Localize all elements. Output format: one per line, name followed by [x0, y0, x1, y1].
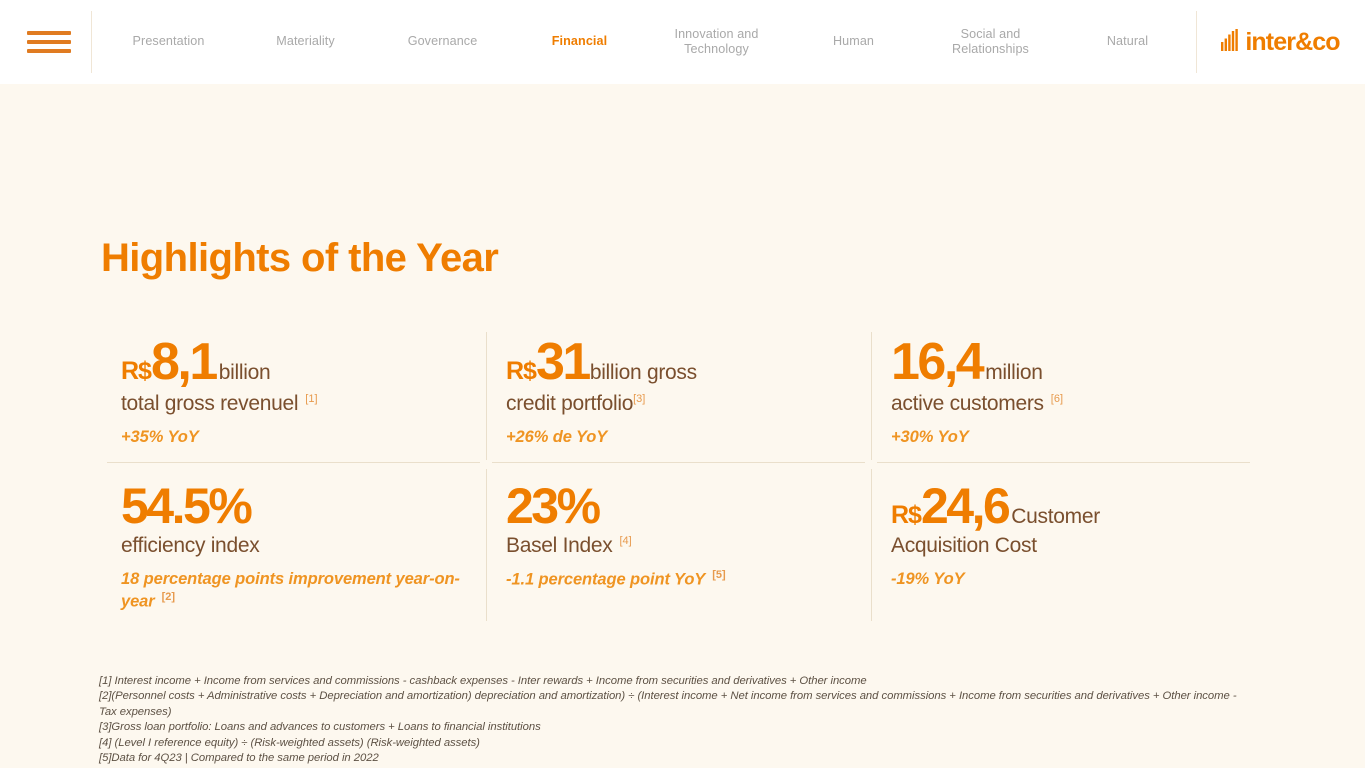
- metric-currency: R$: [121, 357, 151, 385]
- metric-delta-text: +26% de YoY: [506, 428, 607, 446]
- metric-delta: -1.1 percentage point YoY[5]: [506, 568, 847, 591]
- slide-body: Highlights of the Year R$8,1billion tota…: [0, 84, 1365, 768]
- metric-card-customer-acquisition-cost: R$24,6Customer Acquisition Cost -19% YoY: [871, 463, 1256, 633]
- footnotes: [1] Interest income + Income from servic…: [99, 674, 1254, 768]
- nav-item-human[interactable]: Human: [785, 34, 922, 50]
- metric-delta-footnote-ref: [5]: [712, 569, 725, 581]
- metric-label-row: efficiency index: [121, 533, 462, 559]
- metric-headline: R$24,6Customer: [891, 481, 1232, 531]
- footnote-3: [3]Gross loan portfolio: Loans and advan…: [99, 720, 1254, 735]
- metric-value: 8,1: [151, 333, 216, 391]
- metric-delta: 18 percentage points improvement year-on…: [121, 568, 462, 613]
- metric-delta: -19% YoY: [891, 568, 1232, 590]
- metric-headline: 23%: [506, 481, 847, 531]
- metric-card-total-gross-revenue: R$8,1billion total gross revenuel[1] +35…: [101, 330, 486, 463]
- metric-delta: +30% YoY: [891, 426, 1232, 448]
- metric-card-basel-index: 23% Basel Index[4] -1.1 percentage point…: [486, 463, 871, 633]
- metric-label-row: credit portfolio[3]: [506, 391, 847, 417]
- brand-logo[interactable]: inter&co: [1197, 28, 1363, 57]
- top-navigation-bar: Presentation Materiality Governance Fina…: [0, 0, 1365, 84]
- nav-item-presentation[interactable]: Presentation: [100, 34, 237, 50]
- metric-unit: million: [985, 361, 1042, 384]
- metric-delta: +26% de YoY: [506, 426, 847, 448]
- metric-headline: 54.5%: [121, 481, 462, 531]
- metric-value: 24,6: [921, 478, 1008, 534]
- metric-headline: R$31billion gross: [506, 336, 847, 388]
- metric-label: total gross revenuel: [121, 392, 298, 415]
- metric-label-row: total gross revenuel[1]: [121, 391, 462, 417]
- metric-value: 23%: [506, 478, 599, 534]
- hamburger-bar: [27, 40, 71, 44]
- metric-label: Basel Index: [506, 534, 612, 557]
- metric-delta: +35% YoY: [121, 426, 462, 448]
- hamburger-menu-icon[interactable]: [27, 31, 71, 53]
- metric-label: active customers: [891, 392, 1044, 415]
- metric-unit: Customer: [1011, 505, 1100, 528]
- metric-delta-text: +30% YoY: [891, 428, 969, 446]
- metric-label: Acquisition Cost: [891, 534, 1037, 557]
- metric-delta-text: -1.1 percentage point YoY: [506, 570, 705, 588]
- metric-unit: billion gross: [590, 361, 697, 384]
- metric-label-row: Acquisition Cost: [891, 533, 1232, 559]
- footnote-4: [4] (Level I reference equity) ÷ (Risk-w…: [99, 736, 1254, 751]
- metric-label: efficiency index: [121, 534, 259, 557]
- metric-footnote-ref: [3]: [633, 393, 645, 405]
- logo-text: inter&co: [1245, 28, 1339, 57]
- metric-headline: R$8,1billion: [121, 336, 462, 388]
- nav-items: Presentation Materiality Governance Fina…: [92, 0, 1196, 84]
- metric-value: 31: [536, 333, 589, 391]
- metric-card-active-customers: 16,4million active customers[6] +30% YoY: [871, 330, 1256, 463]
- metric-value: 16,4: [891, 333, 982, 391]
- nav-item-governance[interactable]: Governance: [374, 34, 511, 50]
- metric-label-row: Basel Index[4]: [506, 533, 847, 559]
- metric-delta-text: -19% YoY: [891, 570, 964, 588]
- hamburger-bar: [27, 31, 71, 35]
- nav-item-materiality[interactable]: Materiality: [237, 34, 374, 50]
- metric-headline: 16,4million: [891, 336, 1232, 388]
- metric-currency: R$: [506, 357, 536, 385]
- nav-item-financial[interactable]: Financial: [511, 34, 648, 50]
- metric-unit: billion: [219, 361, 271, 384]
- metric-currency: R$: [891, 501, 921, 529]
- metrics-grid: R$8,1billion total gross revenuel[1] +35…: [101, 330, 1266, 633]
- footnote-1: [1] Interest income + Income from servic…: [99, 674, 1254, 689]
- metric-delta-text: 18 percentage points improvement year-on…: [121, 570, 460, 611]
- footnote-5: [5]Data for 4Q23 | Compared to the same …: [99, 751, 1254, 766]
- nav-item-innovation-and-technology[interactable]: Innovation and Technology: [648, 27, 785, 58]
- hamburger-bar: [27, 49, 71, 53]
- footnote-2: [2](Personnel costs + Administrative cos…: [99, 689, 1254, 720]
- metric-card-credit-portfolio: R$31billion gross credit portfolio[3] +2…: [486, 330, 871, 463]
- metric-value: 54.5%: [121, 478, 250, 534]
- metric-label-row: active customers[6]: [891, 391, 1232, 417]
- metric-footnote-ref: [4]: [619, 535, 631, 547]
- metric-card-efficiency-index: 54.5% efficiency index 18 percentage poi…: [101, 463, 486, 633]
- metric-label: credit portfolio: [506, 392, 633, 415]
- metric-footnote-ref: [6]: [1051, 393, 1063, 405]
- metric-delta-footnote-ref: [2]: [162, 591, 175, 603]
- metric-delta-text: +35% YoY: [121, 428, 199, 446]
- nav-item-social-and-relationships[interactable]: Social and Relationships: [922, 27, 1059, 58]
- metric-footnote-ref: [1]: [305, 393, 317, 405]
- page-title: Highlights of the Year: [101, 236, 498, 281]
- sunburst-rays-icon: [1220, 29, 1242, 56]
- nav-item-natural[interactable]: Natural: [1059, 34, 1196, 50]
